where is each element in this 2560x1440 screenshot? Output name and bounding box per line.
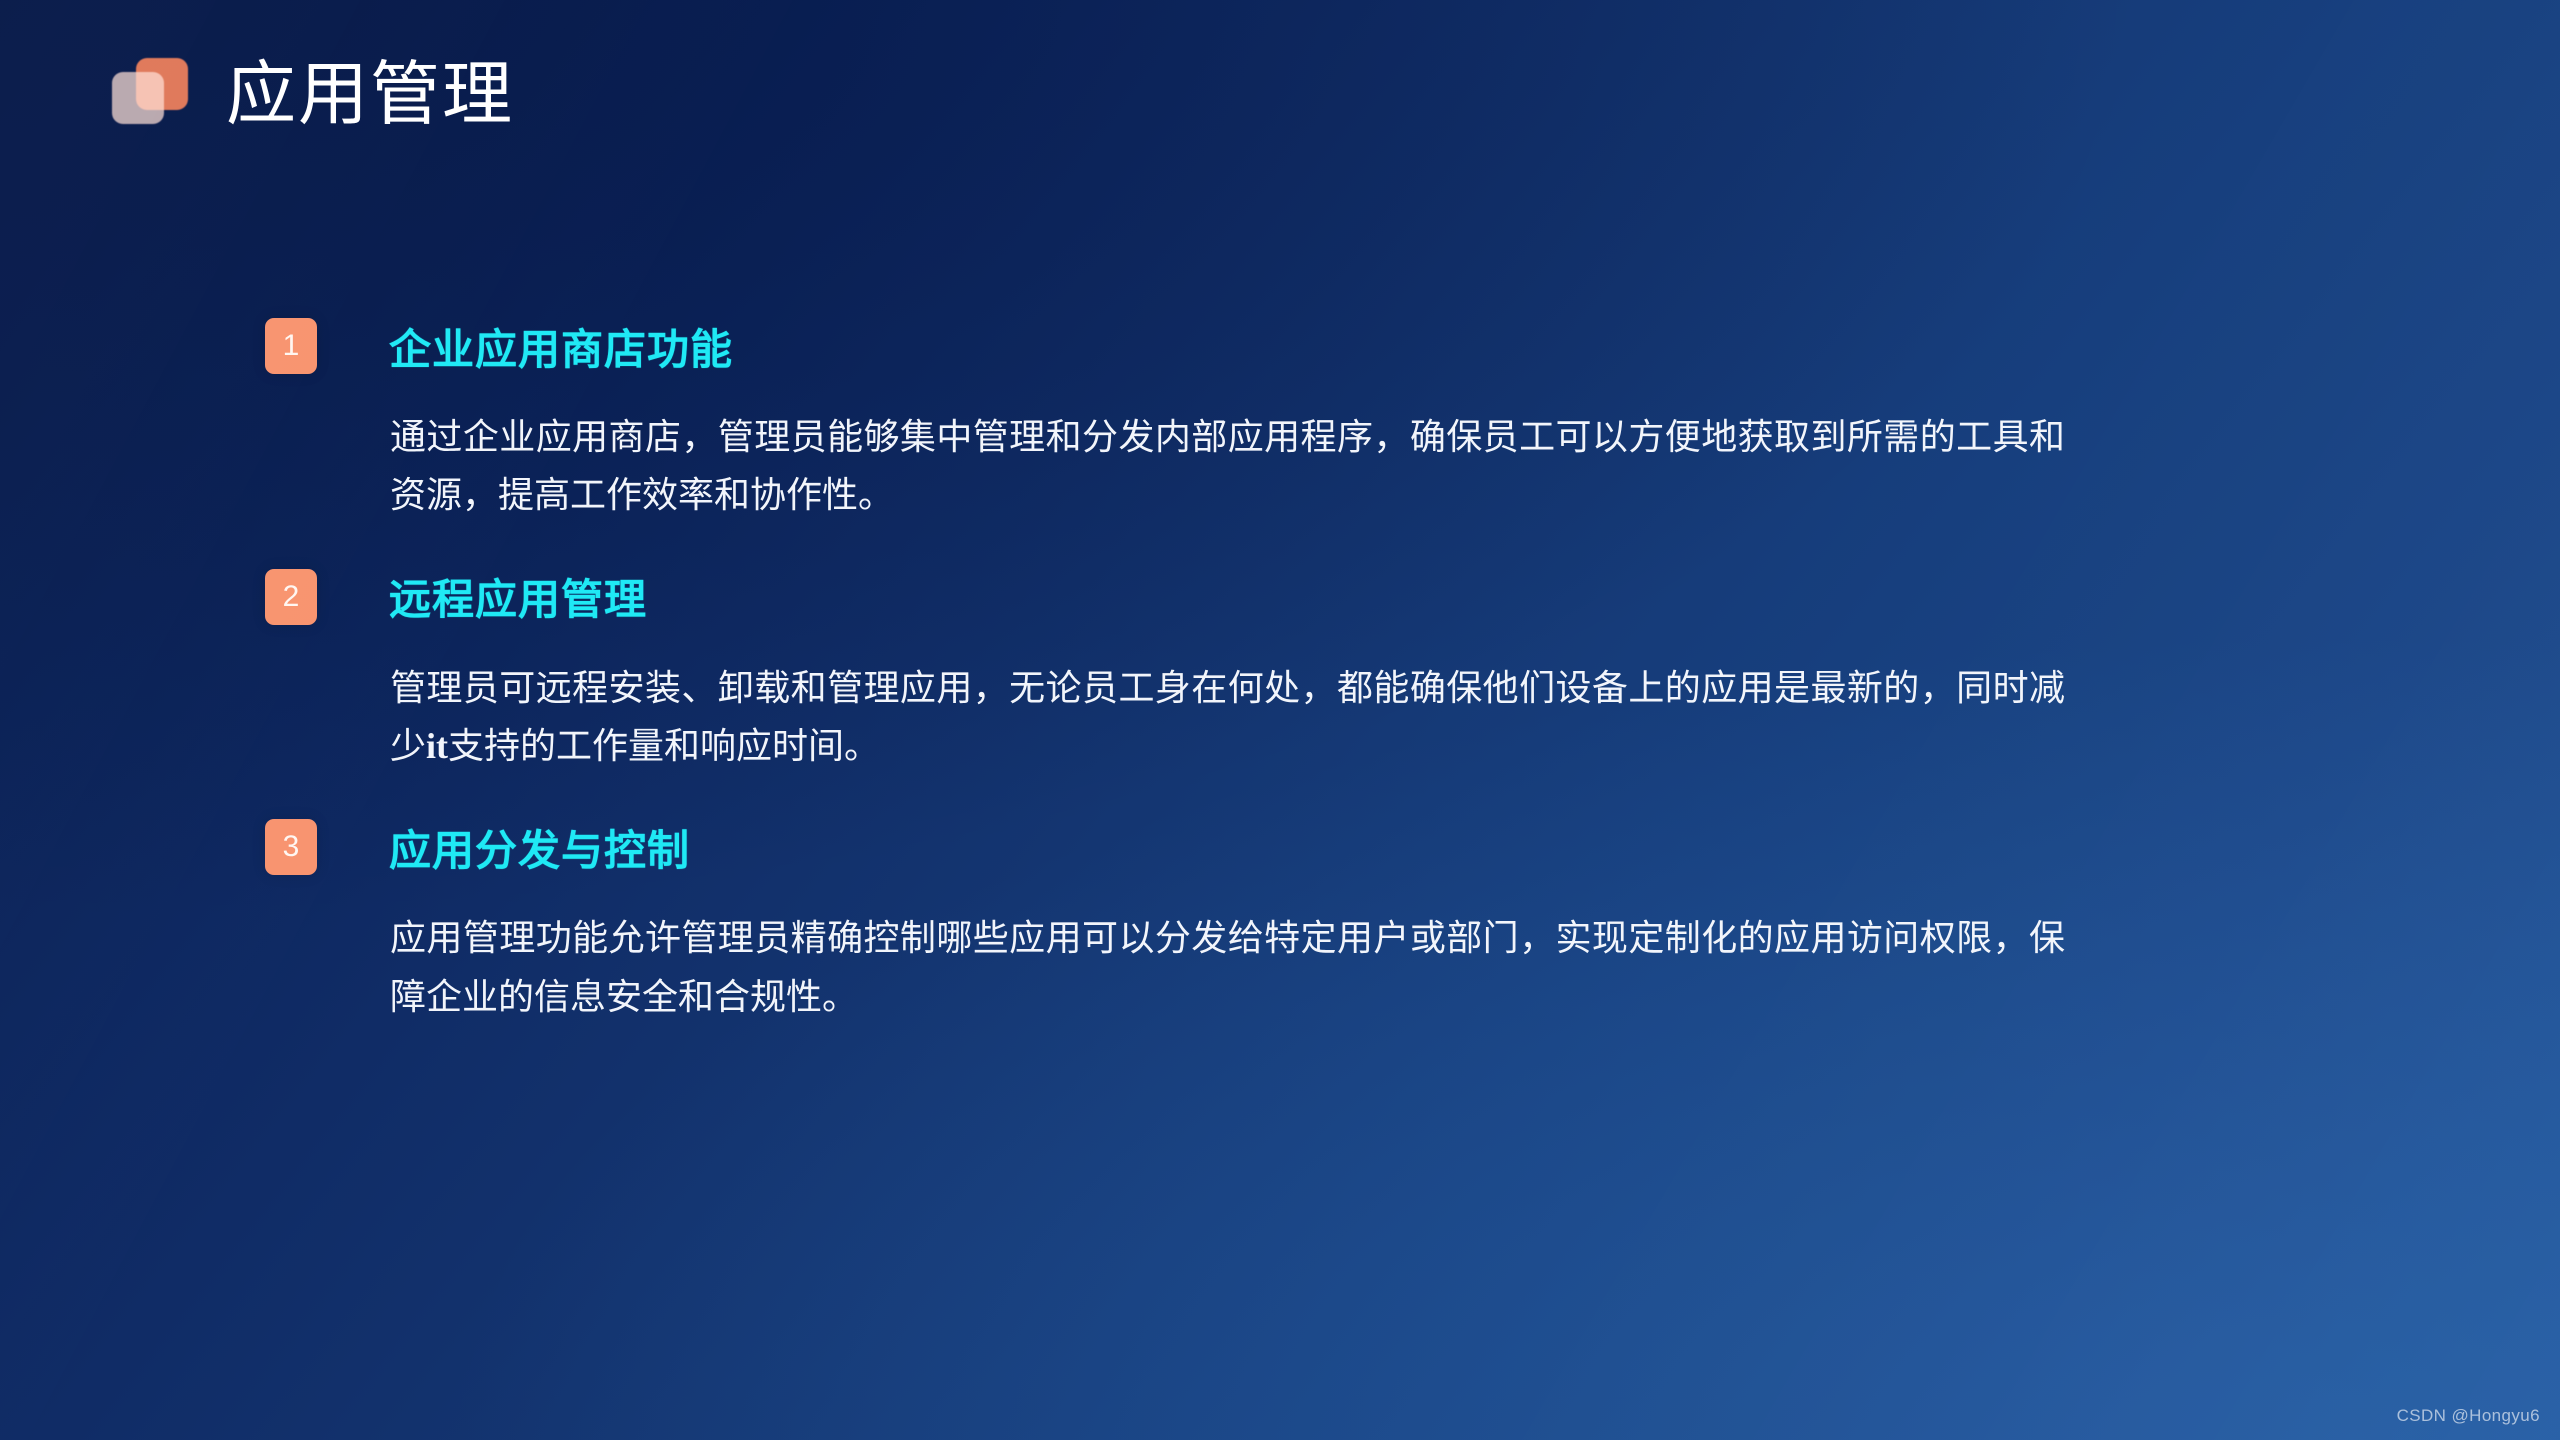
section-item: 2 远程应用管理 管理员可远程安装、卸载和管理应用，无论员工身在何处，都能确保他… xyxy=(265,569,2065,776)
section-number-badge: 3 xyxy=(265,819,317,875)
sections-list: 1 企业应用商店功能 通过企业应用商店，管理员能够集中管理和分发内部应用程序，确… xyxy=(265,318,2065,1026)
icon-square-front xyxy=(112,72,164,124)
page-title: 应用管理 xyxy=(226,61,514,131)
section-body: 通过企业应用商店，管理员能够集中管理和分发内部应用程序，确保员工可以方便地获取到… xyxy=(390,408,2065,525)
section-body-text: 应用管理功能允许管理员精确控制哪些应用可以分发给特定用户或部门，实现定制化的应用… xyxy=(390,918,2065,1016)
section-number-badge: 1 xyxy=(265,318,317,374)
section-body-strong: it xyxy=(426,726,448,766)
watermark: CSDN @Hongyu6 xyxy=(2397,1406,2540,1426)
section-item: 3 应用分发与控制 应用管理功能允许管理员精确控制哪些应用可以分发给特定用户或部… xyxy=(265,819,2065,1026)
section-body: 管理员可远程安装、卸载和管理应用，无论员工身在何处，都能确保他们设备上的应用是最… xyxy=(390,659,2065,776)
slide-title-row: 应用管理 xyxy=(110,58,514,134)
section-header: 1 企业应用商店功能 xyxy=(265,318,2065,374)
section-number-badge: 2 xyxy=(265,569,317,625)
section-body-text-tail: 支持的工作量和响应时间。 xyxy=(448,726,880,766)
section-body-text: 通过企业应用商店，管理员能够集中管理和分发内部应用程序，确保员工可以方便地获取到… xyxy=(390,417,2065,515)
overlapping-squares-icon xyxy=(110,58,190,134)
slide-canvas: 应用管理 1 企业应用商店功能 通过企业应用商店，管理员能够集中管理和分发内部应… xyxy=(0,0,2560,1440)
section-heading: 企业应用商店功能 xyxy=(389,316,733,377)
section-item: 1 企业应用商店功能 通过企业应用商店，管理员能够集中管理和分发内部应用程序，确… xyxy=(265,318,2065,525)
section-header: 3 应用分发与控制 xyxy=(265,819,2065,875)
section-heading: 远程应用管理 xyxy=(389,566,647,627)
section-header: 2 远程应用管理 xyxy=(265,569,2065,625)
section-body: 应用管理功能允许管理员精确控制哪些应用可以分发给特定用户或部门，实现定制化的应用… xyxy=(390,909,2065,1026)
section-heading: 应用分发与控制 xyxy=(389,817,690,878)
